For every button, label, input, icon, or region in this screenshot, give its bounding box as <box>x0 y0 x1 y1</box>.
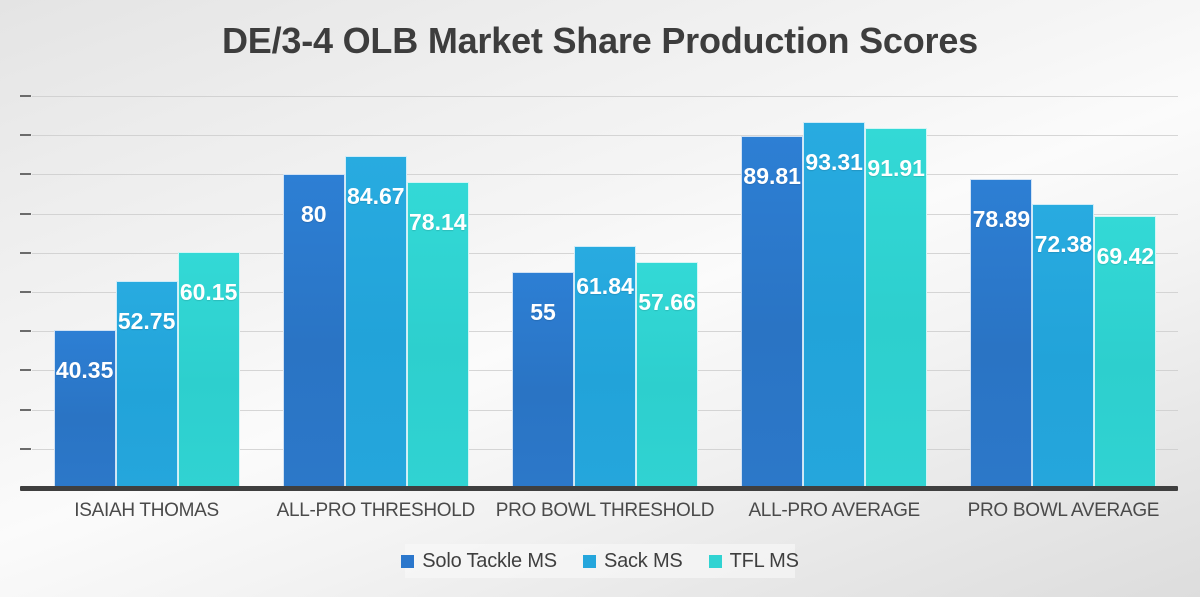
bar[interactable]: 89.81 <box>741 136 803 488</box>
bar[interactable]: 61.84 <box>574 246 636 488</box>
legend-swatch-icon <box>709 555 722 568</box>
category-label: ALL-PRO THRESHOLD <box>261 500 490 522</box>
bar[interactable]: 91.91 <box>865 128 927 488</box>
bar[interactable]: 84.67 <box>345 156 407 488</box>
bar-value-label: 78.89 <box>973 206 1031 233</box>
y-axis-tick <box>20 95 31 97</box>
x-axis-line <box>20 486 1178 491</box>
category-axis-labels: ISAIAH THOMASALL-PRO THRESHOLDPRO BOWL T… <box>32 500 1178 532</box>
y-axis-tick <box>20 252 31 254</box>
bar-value-label: 55 <box>530 299 556 326</box>
y-axis-tick <box>20 291 31 293</box>
legend-item[interactable]: Solo Tackle MS <box>401 550 557 573</box>
bar-value-label: 40.35 <box>56 357 114 384</box>
bar-value-label: 80 <box>301 201 327 228</box>
chart-container: DE/3-4 OLB Market Share Production Score… <box>0 0 1200 597</box>
bar[interactable]: 78.89 <box>970 179 1032 488</box>
chart-legend: Solo Tackle MSSack MSTFL MS <box>405 544 795 578</box>
bar-value-label: 72.38 <box>1035 231 1093 258</box>
bar-value-label: 93.31 <box>805 149 863 176</box>
bar-value-label: 91.91 <box>867 155 925 182</box>
bar[interactable]: 80 <box>283 174 345 488</box>
bar[interactable]: 60.15 <box>178 252 240 488</box>
bars-layer: 40.3552.7560.158084.6778.145561.8457.668… <box>32 96 1178 488</box>
legend-swatch-icon <box>401 555 414 568</box>
category-label: PRO BOWL THRESHOLD <box>490 500 719 522</box>
bar-group: 89.8193.3191.91 <box>741 96 927 488</box>
category-label: ISAIAH THOMAS <box>32 500 261 522</box>
bar-value-label: 78.14 <box>409 209 467 236</box>
category-label: PRO BOWL AVERAGE <box>949 500 1178 522</box>
bar[interactable]: 69.42 <box>1094 216 1156 488</box>
bar-value-label: 84.67 <box>347 183 405 210</box>
legend-label: TFL MS <box>730 550 799 573</box>
y-axis-tick <box>20 330 31 332</box>
bar-value-label: 69.42 <box>1097 243 1155 270</box>
legend-item[interactable]: TFL MS <box>709 550 799 573</box>
chart-title: DE/3-4 OLB Market Share Production Score… <box>0 20 1200 62</box>
y-axis-tick <box>20 409 31 411</box>
bar[interactable]: 78.14 <box>407 182 469 488</box>
category-label: ALL-PRO AVERAGE <box>720 500 949 522</box>
bar-value-label: 57.66 <box>638 289 696 316</box>
legend-item[interactable]: Sack MS <box>583 550 683 573</box>
bar-group: 40.3552.7560.15 <box>54 96 240 488</box>
legend-label: Solo Tackle MS <box>422 550 557 573</box>
bar-group: 5561.8457.66 <box>512 96 698 488</box>
bar[interactable]: 40.35 <box>54 330 116 488</box>
bar[interactable]: 93.31 <box>803 122 865 488</box>
y-axis-tick <box>20 173 31 175</box>
bar[interactable]: 57.66 <box>636 262 698 488</box>
bar-value-label: 89.81 <box>743 163 801 190</box>
y-axis-tick <box>20 448 31 450</box>
bar-value-label: 60.15 <box>180 279 238 306</box>
legend-label: Sack MS <box>604 550 683 573</box>
legend-swatch-icon <box>583 555 596 568</box>
bar-value-label: 61.84 <box>576 273 634 300</box>
bar[interactable]: 55 <box>512 272 574 488</box>
bar-group: 8084.6778.14 <box>283 96 469 488</box>
bar-value-label: 52.75 <box>118 308 176 335</box>
bar[interactable]: 72.38 <box>1032 204 1094 488</box>
y-axis-tick <box>20 369 31 371</box>
y-axis-tick <box>20 213 31 215</box>
bar-group: 78.8972.3869.42 <box>970 96 1156 488</box>
y-axis-tick <box>20 134 31 136</box>
bar[interactable]: 52.75 <box>116 281 178 488</box>
